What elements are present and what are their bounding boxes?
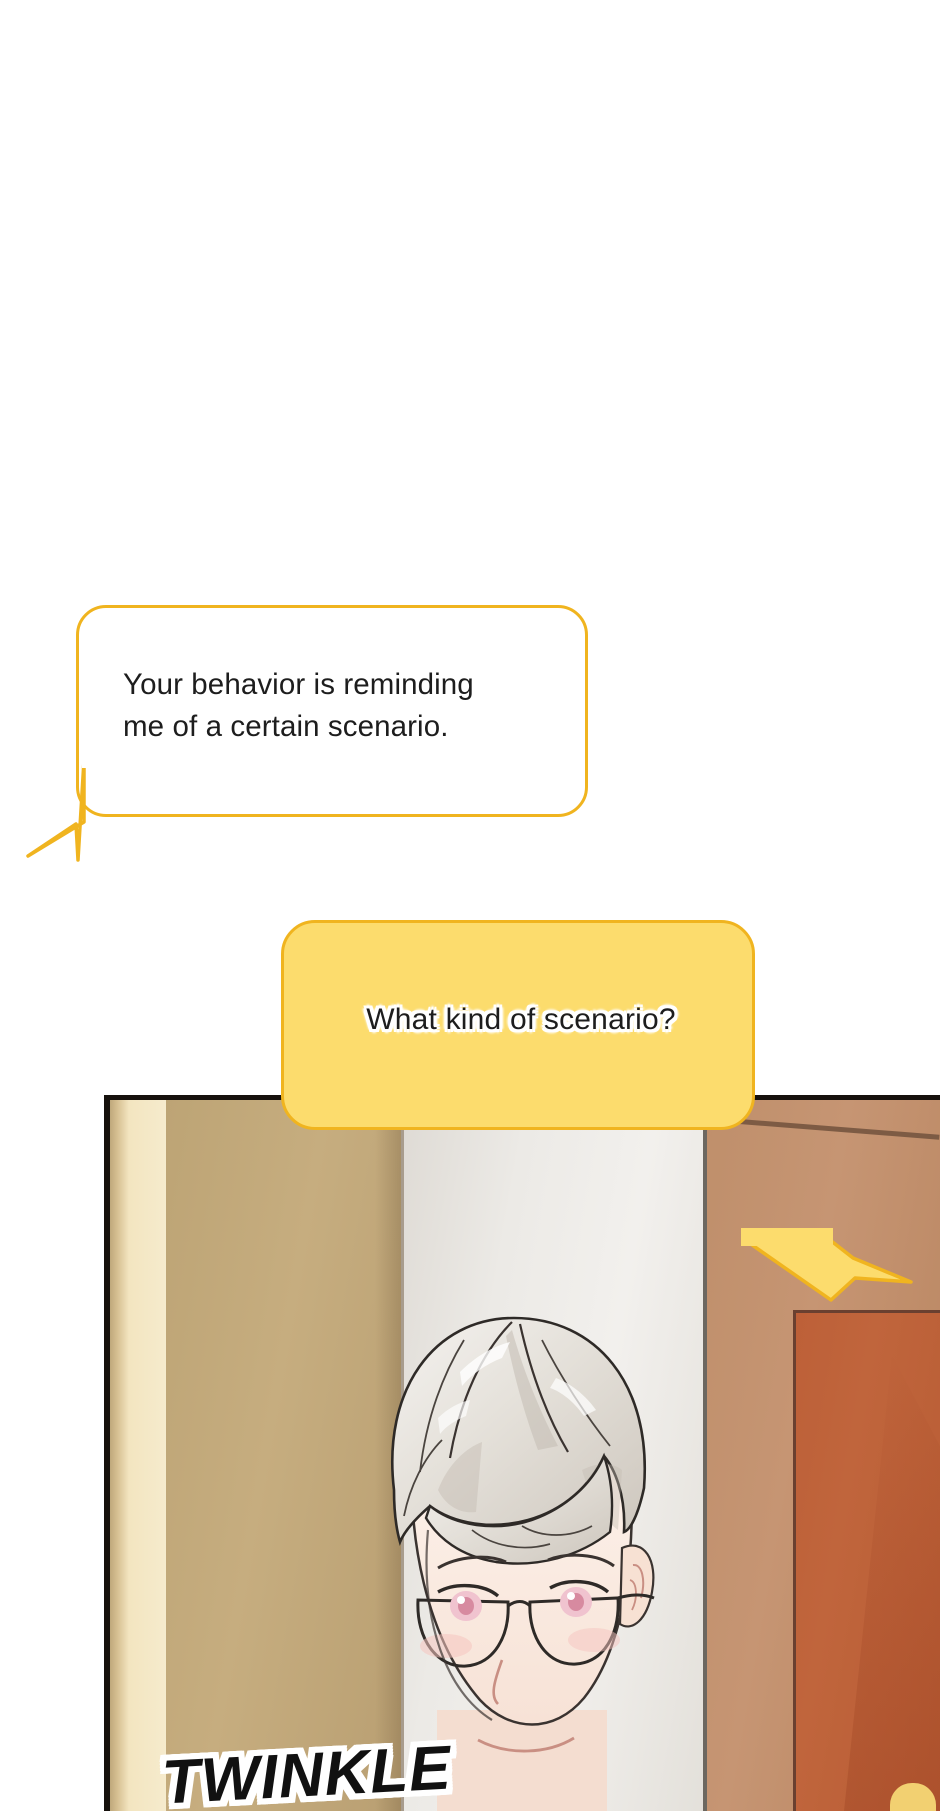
speech-bubble-white-text: Your behavior is reminding me of a certa…: [123, 664, 563, 748]
speech-bubble-yellow: What kind of scenario?: [281, 920, 755, 1130]
speech-bubble-white-tail: [18, 760, 128, 860]
panel-border-left: [104, 1095, 110, 1811]
speech-bubble-white: Your behavior is reminding me of a certa…: [76, 605, 588, 817]
blank-space-top: [0, 0, 940, 600]
speech-bubble-yellow-tail: [735, 1050, 925, 1300]
wall-cream-strip: [110, 1100, 166, 1811]
comic-page: Your behavior is reminding me of a certa…: [0, 0, 940, 1811]
speech-bubble-yellow-text: What kind of scenario?: [284, 1001, 758, 1039]
character-young-man: [342, 1280, 687, 1811]
